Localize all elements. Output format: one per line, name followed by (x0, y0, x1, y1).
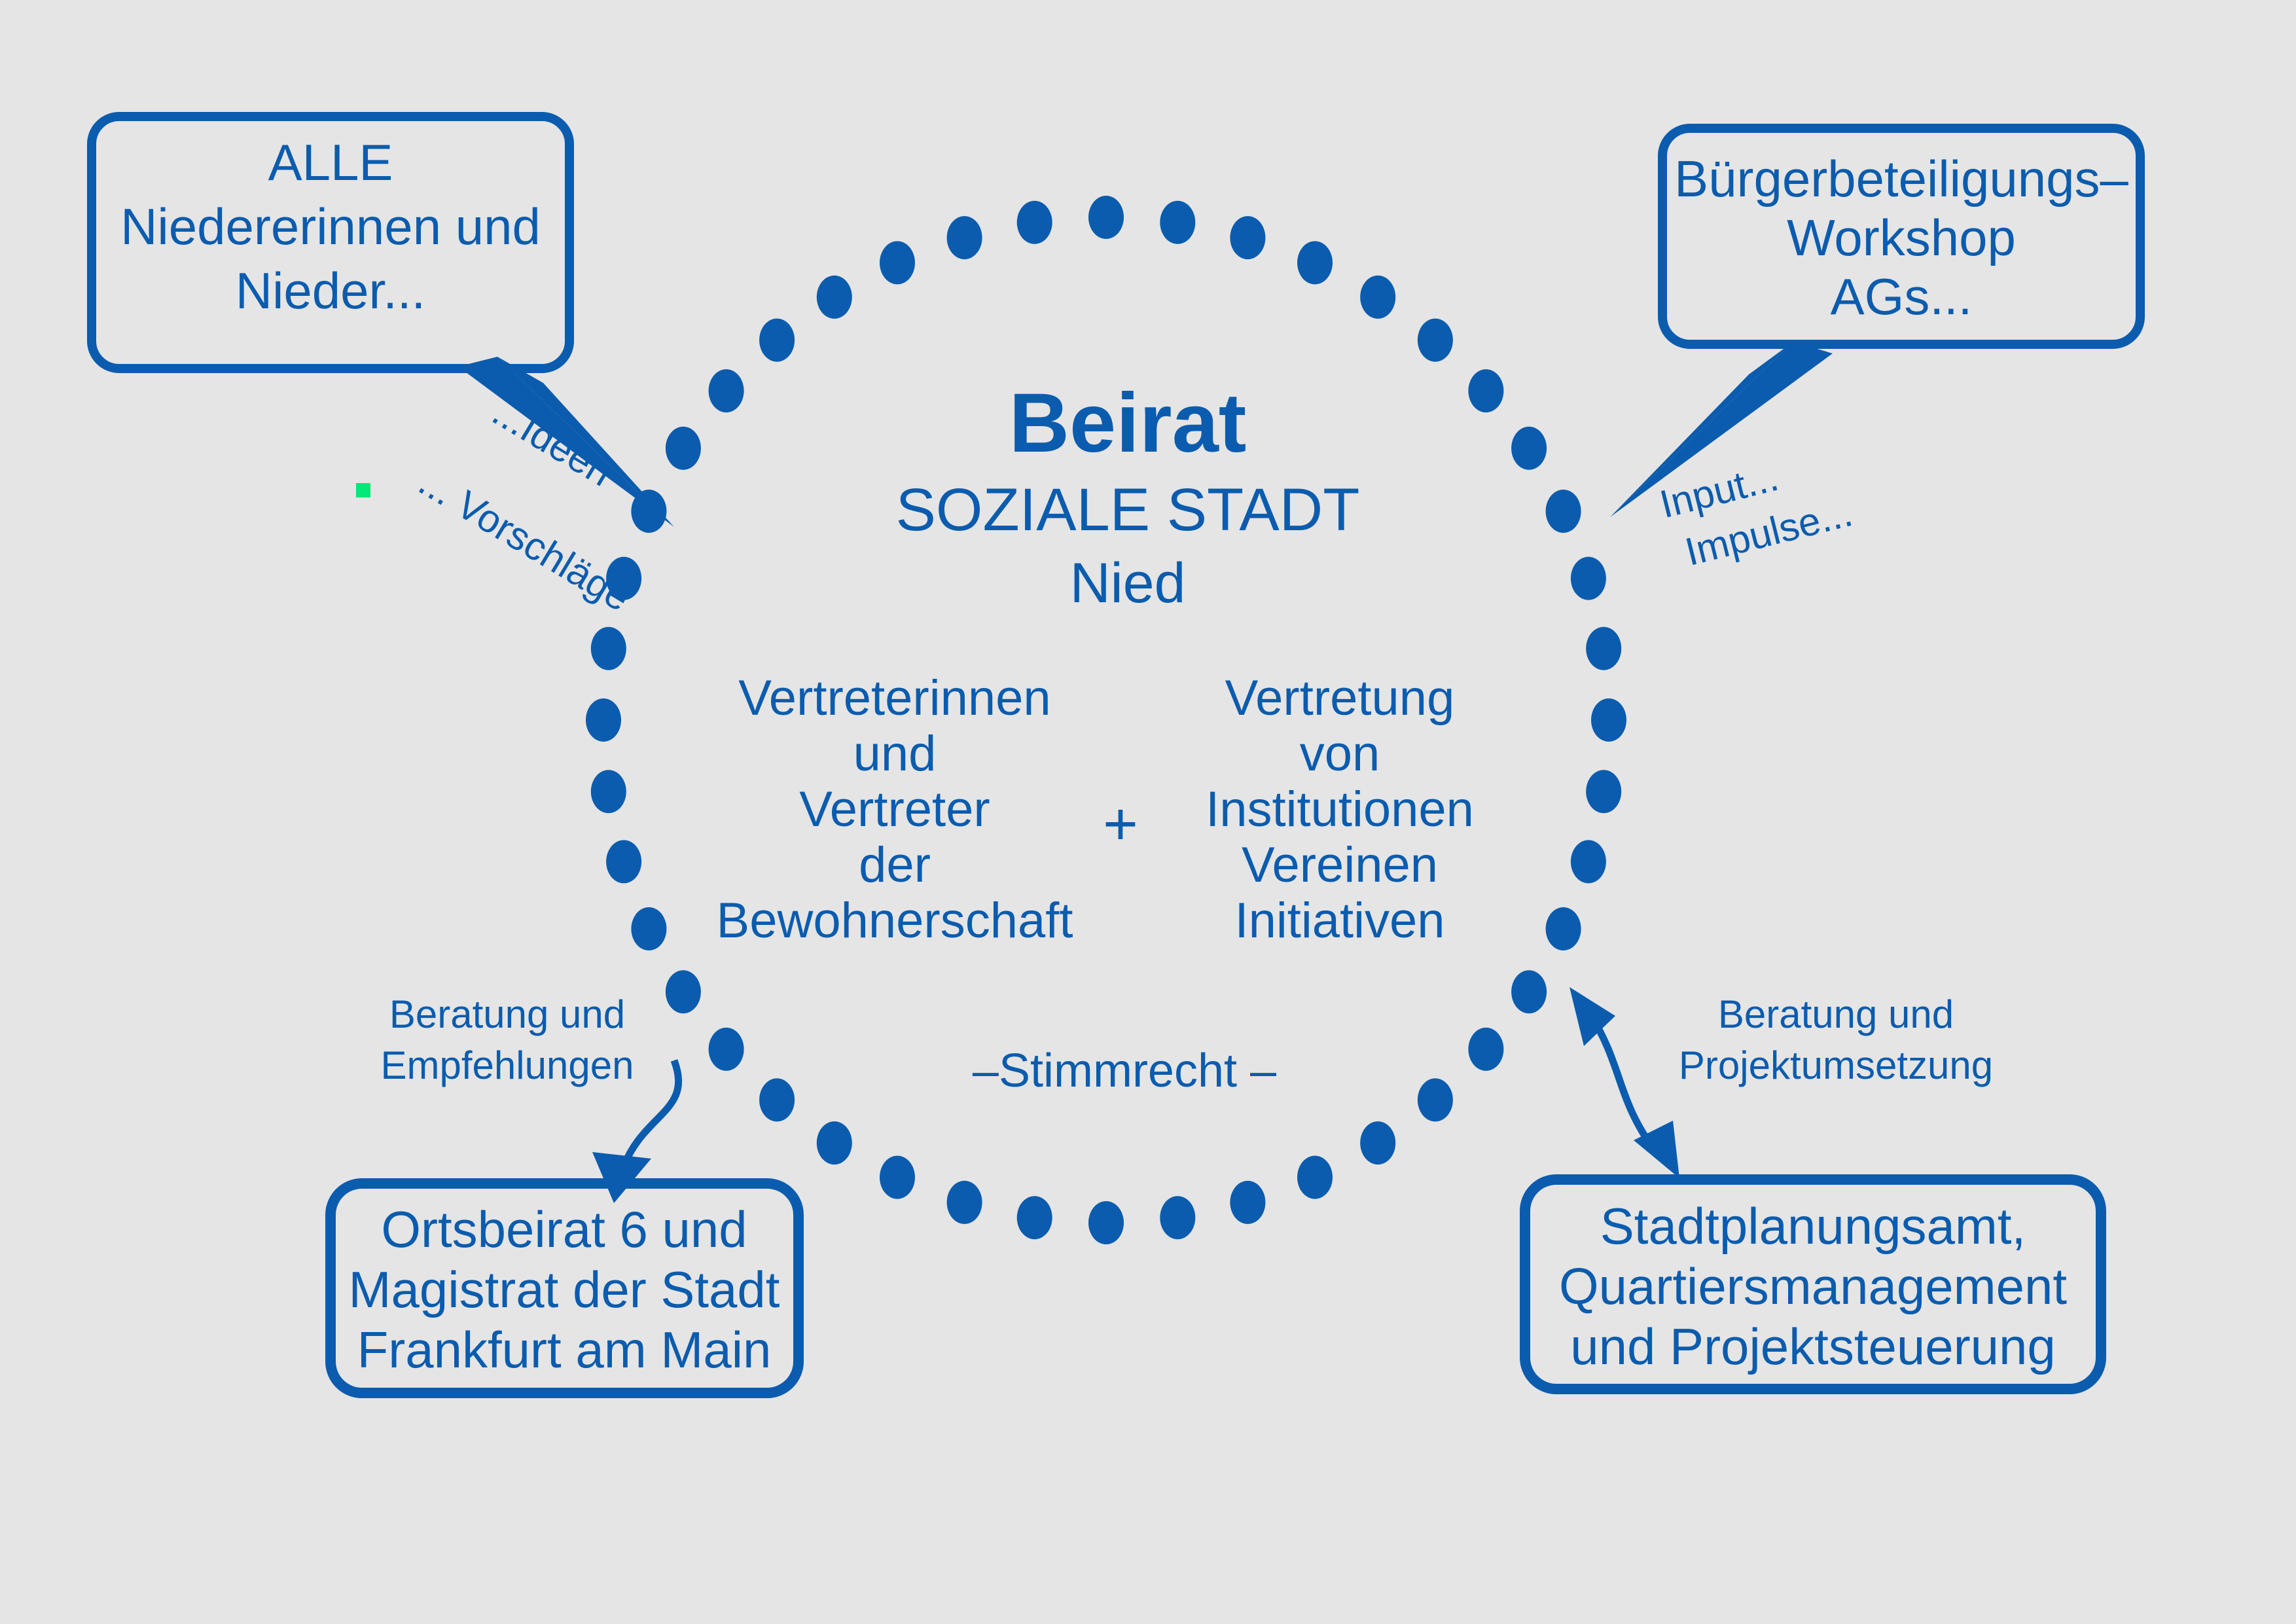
center-subtitle: SOZIALE STADT (896, 477, 1360, 543)
left-col-line-2: und (853, 726, 937, 782)
center-subtitle-2: Nied (1070, 552, 1186, 615)
right-col-line-3: Institutionen (1206, 782, 1474, 837)
left-col-line-1: Vertreterinnen (738, 670, 1050, 726)
bubble-tl-line-2: Niedererinnen und (120, 198, 541, 255)
annotation-bl-line-2: Empfehlungen (381, 1043, 634, 1087)
green-dot-marker (356, 483, 370, 497)
right-col-line-5: Initiativen (1234, 893, 1444, 948)
diagram-canvas: ALLE Niedererinnen und Nieder... Bürgerb… (0, 0, 2296, 1624)
bubble-tr-line-2: Workshop (1787, 209, 2016, 266)
annotation-ideen: ...Ideen (485, 389, 620, 495)
box-br-line-3: und Projektsteuerung (1570, 1318, 2056, 1375)
bubble-top-left-text: ALLE Niedererinnen und Nieder... (120, 134, 541, 319)
center-right-column: Vertretung von Institutionen Vereinen In… (1206, 670, 1474, 948)
annotation-bottom-left: Beratung und Empfehlungen (381, 992, 634, 1087)
text-layer: ALLE Niedererinnen und Nieder... Bürgerb… (0, 0, 2296, 1624)
box-bl-line-3: Frankfurt am Main (357, 1321, 772, 1379)
bubble-top-right-text: Bürgerbeteiligungs– Workshop AGs... (1674, 150, 2128, 325)
right-col-line-2: von (1300, 726, 1380, 782)
annotation-br-line-2: Projektumsetzung (1679, 1043, 1993, 1087)
right-col-line-4: Vereinen (1242, 837, 1438, 893)
annotation-input: Input... Impulse... (1655, 439, 1856, 577)
box-br-line-2: Quartiersmanagement (1559, 1257, 2067, 1315)
bubble-tr-line-3: AGs... (1831, 268, 1973, 325)
box-bl-line-1: Ortsbeirat 6 und (381, 1200, 747, 1258)
bubble-tl-line-3: Nieder... (236, 262, 425, 319)
annotation-bottom-right: Beratung und Projektumsetzung (1679, 992, 1993, 1087)
annotation-bl-line-1: Beratung und (389, 992, 625, 1036)
center-title-group: Beirat SOZIALE STADT Nied (896, 376, 1360, 615)
left-col-line-3: Vertreter (799, 782, 990, 837)
left-col-line-4: der (859, 837, 931, 893)
annotation-ideen-text: ...Ideen (485, 389, 620, 495)
right-col-line-1: Vertretung (1225, 670, 1455, 726)
box-bottom-left-text: Ortsbeirat 6 und Magistrat der Stadt Fra… (349, 1200, 780, 1379)
bubble-tl-line-1: ALLE (268, 134, 393, 191)
plus-symbol: + (1103, 791, 1138, 857)
stimmrecht-label: –Stimmrecht – (973, 1045, 1277, 1097)
bubble-tr-line-1: Bürgerbeteiligungs– (1674, 150, 2128, 208)
box-bl-line-2: Magistrat der Stadt (349, 1261, 780, 1318)
center-left-column: Vertreterinnen und Vertreter der Bewohne… (717, 670, 1073, 948)
left-col-line-5: Bewohnerschaft (717, 893, 1073, 948)
box-br-line-1: Stadtplanungsamt, (1600, 1197, 2026, 1255)
box-bottom-right-text: Stadtplanungsamt, Quartiersmanagement un… (1559, 1197, 2067, 1375)
center-title: Beirat (1009, 376, 1247, 470)
annotation-br-line-1: Beratung und (1718, 992, 1954, 1036)
